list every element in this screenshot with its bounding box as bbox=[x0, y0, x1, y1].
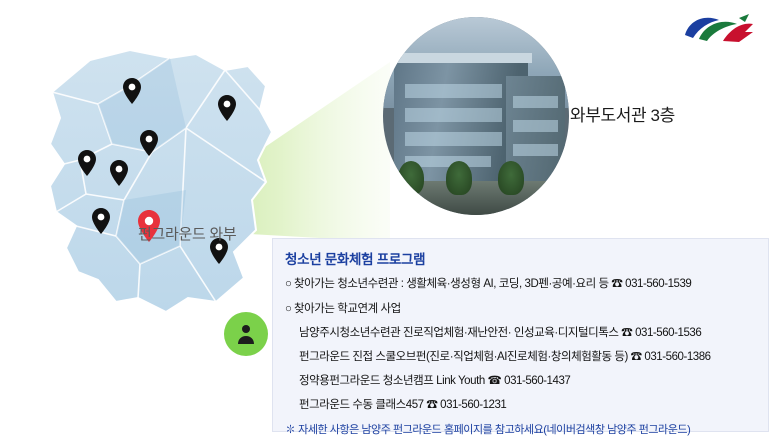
photo-caption: 와부도서관 3층 bbox=[570, 101, 675, 126]
photo-window-1 bbox=[405, 84, 502, 98]
program-info-note: ✽ 자세한 사항은 남양주 펀그라운드 홈페이지를 참고하세요(네이버검색창 남… bbox=[285, 421, 690, 437]
bullet-icon-1: ○ bbox=[285, 303, 294, 315]
program-sub-item-3: 펀그라운드 수동 클래스457 ☎ 031-560-1231 bbox=[299, 396, 506, 412]
photo-tree-3 bbox=[498, 161, 524, 195]
photo-window-3 bbox=[405, 132, 502, 146]
program-info-item-1: ○찾아가는 학교연계 사업 bbox=[285, 300, 401, 316]
map-area-label: 펀그라운드 와부 bbox=[138, 223, 236, 244]
program-info-title: 청소년 문화체험 프로그램 bbox=[285, 248, 425, 268]
map-pin-1 bbox=[123, 78, 141, 104]
bullet-icon-0: ○ bbox=[285, 278, 294, 290]
namyangju-city-logo bbox=[679, 8, 761, 48]
photo-window-7 bbox=[513, 144, 558, 156]
program-sub-item-2: 정약용펀그라운드 청소년캠프 Link Youth ☎ 031-560-1437 bbox=[299, 372, 570, 388]
photo-window-6 bbox=[513, 120, 558, 132]
library-photo bbox=[383, 17, 569, 215]
program-info-item-1-text: 찾아가는 학교연계 사업 bbox=[294, 303, 401, 315]
photo-tree-1 bbox=[398, 161, 424, 195]
map-pin-2 bbox=[218, 95, 236, 121]
photo-roofline bbox=[390, 53, 531, 63]
photo-tree-2 bbox=[446, 161, 472, 195]
program-info-item-0: ○찾아가는 청소년수련관 : 생활체육·생성형 AI, 코딩, 3D펜·공예·요… bbox=[285, 275, 691, 291]
photo-window-5 bbox=[513, 96, 558, 108]
map-pin-5 bbox=[110, 160, 128, 186]
slide-canvas: 펀그라운드 와부 와부도서관 3층 청소년 문화체험 프로그램 ○찾아가는 청소… bbox=[0, 0, 779, 438]
program-sub-item-0: 남양주시청소년수련관 진로직업체험·재난안전· 인성교육·디지털디톡스 ☎ 03… bbox=[299, 324, 701, 340]
photo-window-2 bbox=[405, 108, 502, 122]
program-info-item-0-text: 찾아가는 청소년수련관 : 생활체육·생성형 AI, 코딩, 3D펜·공예·요리… bbox=[294, 278, 691, 290]
map-pin-4 bbox=[78, 150, 96, 176]
program-info-panel: 청소년 문화체험 프로그램 ○찾아가는 청소년수련관 : 생활체육·생성형 AI… bbox=[272, 238, 769, 432]
youth-person-icon bbox=[224, 312, 268, 356]
namyangju-map: 펀그라운드 와부 bbox=[20, 40, 310, 340]
program-sub-item-1: 펀그라운드 진접 스쿨오브펀(진로·직업체험·AI진로체험·창의체험활동 등) … bbox=[299, 348, 711, 364]
map-pin-6 bbox=[92, 208, 110, 234]
map-pin-3 bbox=[140, 130, 158, 156]
